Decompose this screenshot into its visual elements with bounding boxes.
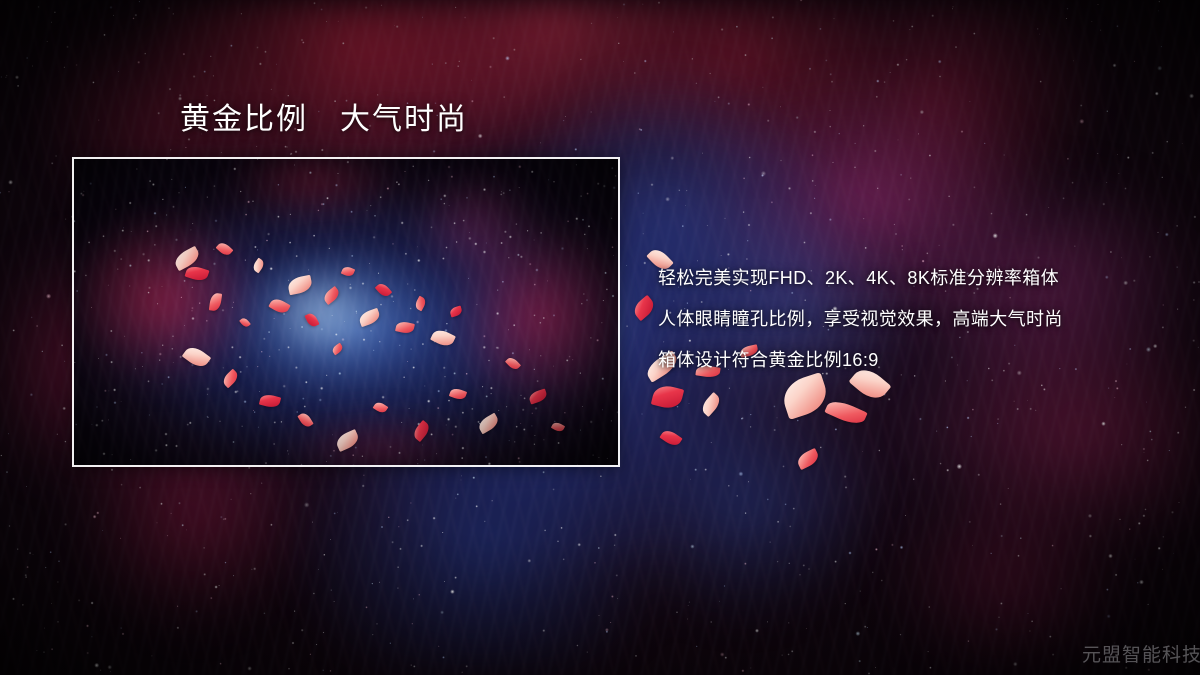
- watermark-text: 元盟智能科技: [1082, 640, 1200, 667]
- slide-title: 黄金比例 大气时尚: [180, 102, 468, 137]
- slide-canvas: 黄金比例 大气时尚 轻松完美实现FHD、2K、4K、8K标准分辨率箱体 人体眼睛…: [0, 0, 1200, 675]
- rose-petal: [824, 397, 867, 429]
- rose-petal: [699, 392, 723, 417]
- panel-vignette: [74, 159, 618, 465]
- body-line-2: 人体眼睛瞳孔比例，享受视觉效果，高端大气时尚: [658, 299, 1178, 340]
- body-line-1: 轻松完美实现FHD、2K、4K、8K标准分辨率箱体: [658, 258, 1178, 299]
- rose-petal: [659, 427, 682, 448]
- panel-image-content: [74, 159, 618, 465]
- body-line-3: 箱体设计符合黄金比例16:9: [658, 340, 1178, 381]
- framed-image-panel: [72, 157, 620, 467]
- body-text-block: 轻松完美实现FHD、2K、4K、8K标准分辨率箱体 人体眼睛瞳孔比例，享受视觉效…: [658, 258, 1178, 381]
- rose-petal: [795, 448, 821, 470]
- rose-petal: [630, 295, 657, 321]
- rose-petal: [651, 383, 684, 411]
